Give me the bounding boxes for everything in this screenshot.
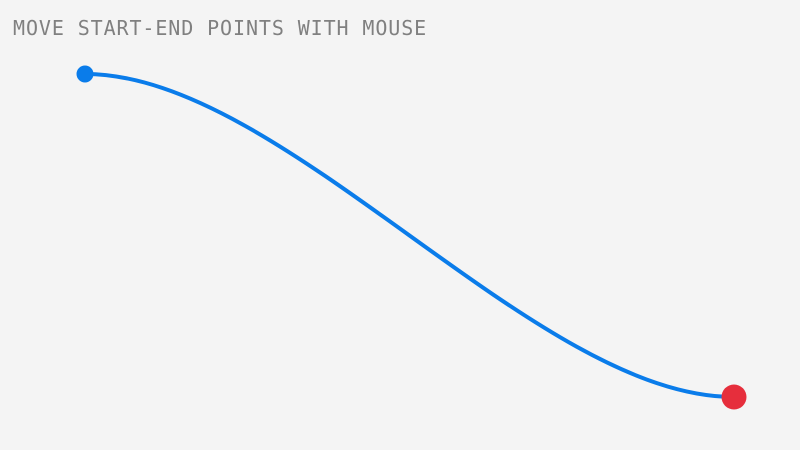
start-point-handle[interactable]	[77, 66, 94, 83]
bezier-curve-svg[interactable]	[0, 0, 800, 450]
end-point-handle[interactable]	[722, 385, 747, 410]
drawing-canvas[interactable]: MOVE START-END POINTS WITH MOUSE	[0, 0, 800, 450]
bezier-curve-path	[85, 74, 734, 397]
